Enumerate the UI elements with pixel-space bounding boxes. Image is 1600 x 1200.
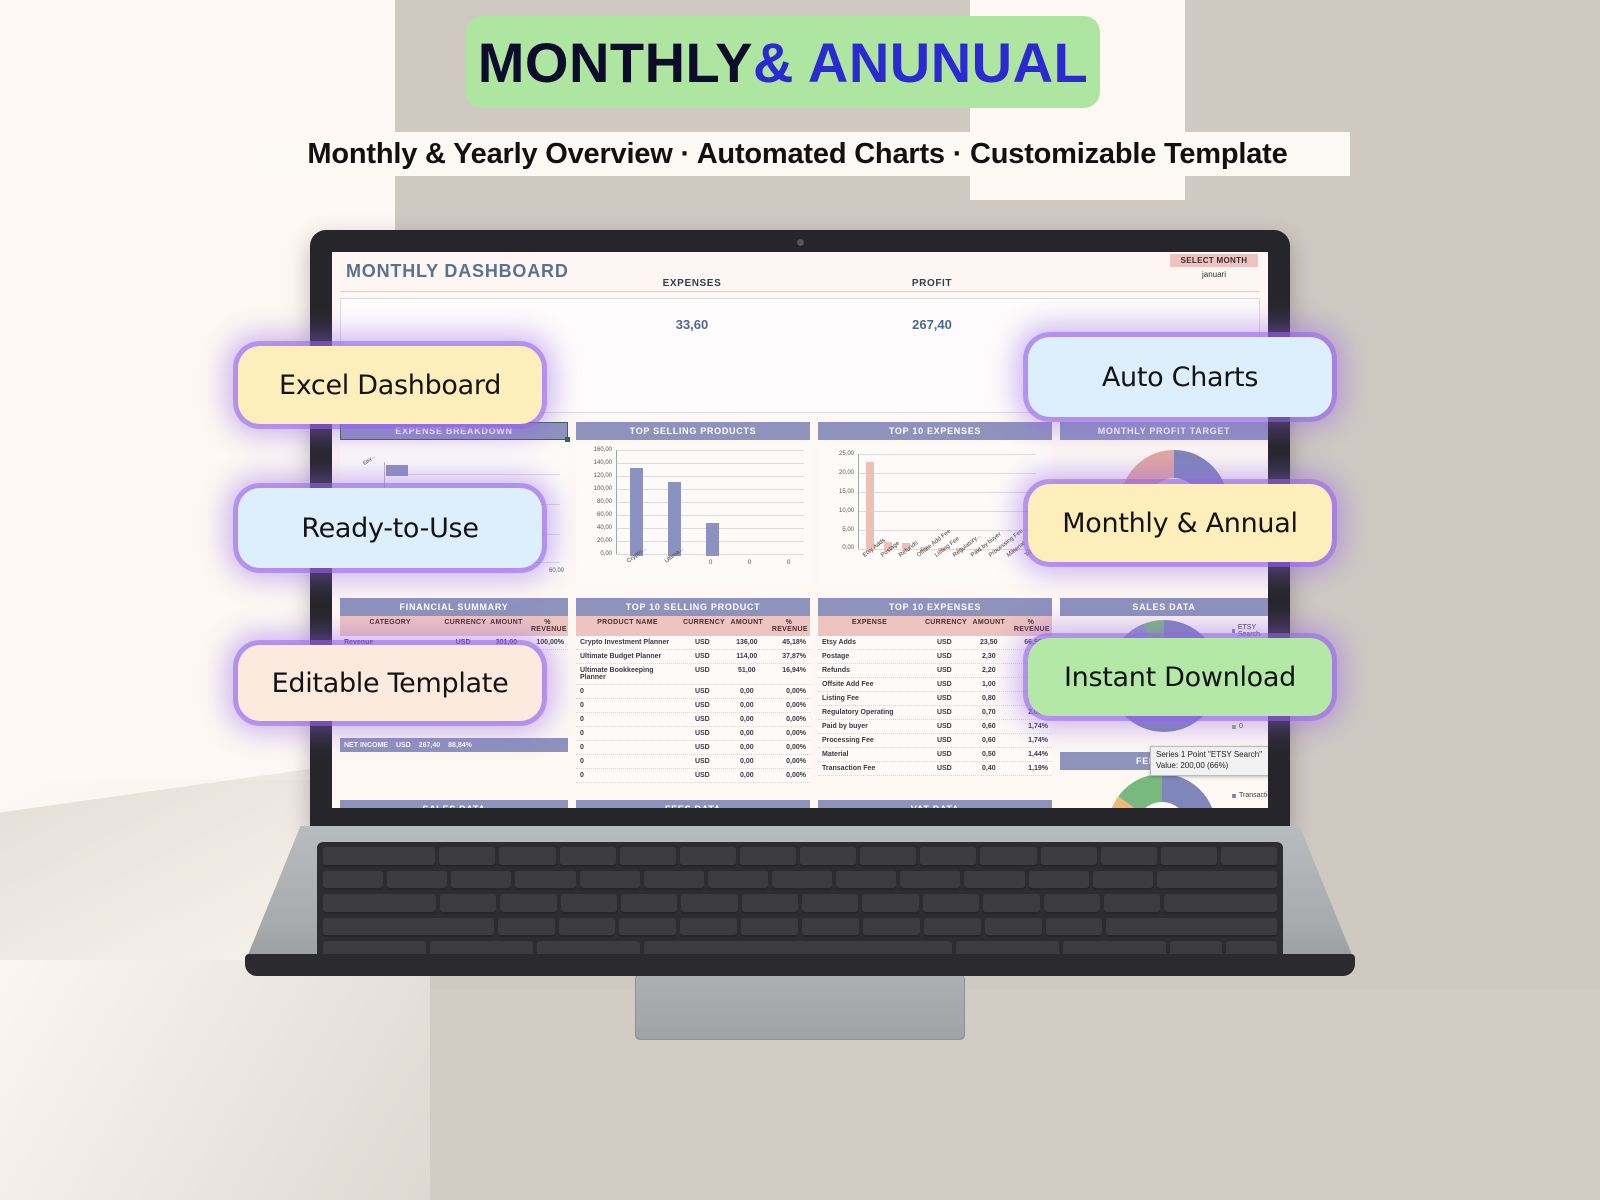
cell-revenue: 0,00%	[768, 727, 810, 740]
table-row[interactable]: 0USD0,000,00%	[576, 727, 810, 741]
table-body: Etsy AddsUSD23,5066,96%PostageUSD2,306,3…	[818, 636, 1052, 776]
select-month-widget[interactable]: SELECT MONTH januari	[1170, 254, 1258, 282]
cell-currency: USD	[921, 762, 968, 775]
cell-amount: 0,60	[968, 734, 1010, 747]
table-header-row: EXPENSE CURRENCY AMOUNT % REVENUE	[818, 616, 1052, 636]
legend-fees-data: Transaction Processing Regulatory	[1232, 792, 1268, 808]
bar-product-1	[630, 468, 643, 556]
main-title-part-1: MONTHLY	[478, 30, 753, 95]
chart-top-10-expenses[interactable]: 25,00 20,00 15,00 10,00 5,00 0,00	[818, 444, 1052, 584]
kpi-profit-value: 267,40	[872, 317, 992, 332]
cell-currency: USD	[679, 769, 726, 782]
cell-revenue: 1,74%	[1010, 720, 1052, 733]
panel-header-expense-breakdown[interactable]: EXPENSE BREAKDOWN	[340, 422, 568, 440]
cell-amount: 0,00	[726, 699, 768, 712]
col-revenue: % REVENUE	[527, 616, 568, 636]
table-row[interactable]: RefundsUSD2,206,25%	[818, 664, 1052, 678]
panel-header-financial-summary[interactable]: FINANCIAL SUMMARY	[340, 598, 568, 616]
feature-pill-monthly-annual[interactable]: Monthly & Annual	[1028, 484, 1332, 562]
kpi-expenses-label: EXPENSES	[632, 278, 752, 289]
cell-revenue: 45,18%	[768, 636, 810, 649]
cell-product-name: Crypto Investment Planner	[576, 636, 679, 649]
col-expense: EXPENSE	[818, 616, 921, 636]
col-currency: CURRENCY	[440, 616, 486, 636]
cell-product-name: 0	[576, 755, 679, 768]
col-category: CATEGORY	[340, 616, 440, 636]
exp-ytick-5: 5,00	[820, 527, 854, 533]
cell-currency: USD	[679, 755, 726, 768]
cell-revenue: 1,44%	[1010, 748, 1052, 761]
table-row[interactable]: Crypto Investment PlannerUSD136,0045,18%	[576, 636, 810, 650]
legend-label: 0	[1239, 723, 1243, 730]
cell-amount: 0,00	[726, 769, 768, 782]
cell-currency: USD	[679, 636, 726, 649]
cell-currency: USD	[679, 685, 726, 698]
net-income-label: NET INCOME	[340, 742, 392, 749]
cell-revenue: 1,19%	[1010, 762, 1052, 775]
cell-amount: 0,00	[726, 741, 768, 754]
kpi-profit-label: PROFIT	[872, 278, 992, 289]
panel-header-monthly-profit-target[interactable]: MONTHLY PROFIT TARGET	[1060, 422, 1268, 440]
xtick-product-5: 0	[787, 560, 790, 566]
axis-tick-max: 60,00	[549, 568, 564, 574]
cell-currency: USD	[921, 678, 968, 691]
cell-amount: 2,30	[968, 650, 1010, 663]
cell-amount: 0,50	[968, 748, 1010, 761]
table-top-10-expenses[interactable]: EXPENSE CURRENCY AMOUNT % REVENUE Etsy A…	[818, 616, 1052, 776]
col-revenue: % REVENUE	[768, 616, 810, 636]
feature-pill-editable-template[interactable]: Editable Template	[238, 645, 542, 721]
panel-header-bottom-fees-data[interactable]: FEES DATA	[576, 800, 810, 808]
subtitle: Monthly & Yearly Overview · Automated Ch…	[245, 132, 1350, 176]
exp-ytick-10: 10,00	[820, 508, 854, 514]
net-income-currency: USD	[392, 742, 415, 749]
table-row[interactable]: 0USD0,000,00%	[576, 755, 810, 769]
legend-item: Transaction	[1232, 792, 1268, 799]
table-row[interactable]: Ultimate Bookkeeping PlannerUSD51,0016,9…	[576, 664, 810, 685]
table-top-10-selling-product[interactable]: PRODUCT NAME CURRENCY AMOUNT % REVENUE C…	[576, 616, 810, 783]
cell-product-name: Ultimate Budget Planner	[576, 650, 679, 663]
table-row[interactable]: 0USD0,000,00%	[576, 769, 810, 783]
main-title-banner: MONTHLY & ANUNUAL	[466, 16, 1100, 108]
feature-pill-instant-download[interactable]: Instant Download	[1028, 638, 1332, 716]
cell-currency: USD	[679, 727, 726, 740]
cell-amount: 1,00	[968, 678, 1010, 691]
table-row[interactable]: Transaction FeeUSD0,401,19%	[818, 762, 1052, 776]
bar-expense-1	[386, 465, 408, 476]
cell-currency: USD	[921, 664, 968, 677]
feature-pill-auto-charts[interactable]: Auto Charts	[1028, 337, 1332, 417]
table-row[interactable]: Ultimate Budget PlannerUSD114,0037,87%	[576, 650, 810, 664]
col-currency: CURRENCY	[921, 616, 968, 636]
laptop-keyboard	[317, 842, 1283, 966]
cell-currency: USD	[921, 706, 968, 719]
cell-expense: Regulatory Operating	[818, 706, 921, 719]
cell-amount: 0,60	[968, 720, 1010, 733]
cell-product-name: 0	[576, 741, 679, 754]
panel-header-top-10-expenses-chart[interactable]: TOP 10 EXPENSES	[818, 422, 1052, 440]
net-income-revenue: 88,84%	[444, 742, 476, 749]
cell-currency: USD	[679, 664, 726, 684]
table-row[interactable]: Regulatory OperatingUSD0,702,08%	[818, 706, 1052, 720]
webcam-icon	[797, 239, 804, 246]
cell-currency: USD	[921, 650, 968, 663]
cell-revenue: 100,00%	[527, 636, 568, 649]
cell-currency: USD	[679, 650, 726, 663]
cell-amount: 0,40	[968, 762, 1010, 775]
panel-header-bottom-vat-data[interactable]: VAT DATA	[818, 800, 1052, 808]
col-amount: AMOUNT	[968, 616, 1010, 636]
table-row[interactable]: 0USD0,000,00%	[576, 713, 810, 727]
panel-header-top-selling-products[interactable]: TOP SELLING PRODUCTS	[576, 422, 810, 440]
cell-product-name: 0	[576, 685, 679, 698]
cell-currency: USD	[679, 741, 726, 754]
tooltip-line-2: Value: 200,00 (66%)	[1156, 761, 1268, 772]
cell-expense: Material	[818, 748, 921, 761]
laptop-base-lip	[245, 954, 1355, 976]
cell-currency: USD	[921, 692, 968, 705]
col-product-name: PRODUCT NAME	[576, 616, 679, 636]
main-title-part-2: & ANUNUAL	[753, 30, 1088, 95]
table-header-row: CATEGORY CURRENCY AMOUNT % REVENUE	[340, 616, 568, 636]
cell-revenue: 0,00%	[768, 755, 810, 768]
chart-top-selling-products[interactable]: 160,00 140,00 120,00 100,00 80,00 60,00 …	[576, 444, 810, 584]
chart-tooltip: Series 1 Point "ETSY Search" Value: 200,…	[1150, 746, 1268, 776]
cell-amount: 0,80	[968, 692, 1010, 705]
table-row[interactable]: Listing FeeUSD0,802,38%	[818, 692, 1052, 706]
cell-currency: USD	[921, 748, 968, 761]
table-row[interactable]: Offsite Add FeeUSD1,002,91%	[818, 678, 1052, 692]
cell-expense: Offsite Add Fee	[818, 678, 921, 691]
panel-header-top-10-selling-product[interactable]: TOP 10 SELLING PRODUCT	[576, 598, 810, 616]
cell-product-name: 0	[576, 727, 679, 740]
dashboard-title: MONTHLY DASHBOARD	[346, 261, 569, 282]
table-row[interactable]: Paid by buyerUSD0,601,74%	[818, 720, 1052, 734]
net-income-amount: 267,40	[415, 742, 444, 749]
cell-currency: USD	[921, 734, 968, 747]
col-amount: AMOUNT	[726, 616, 768, 636]
ytick-60: 60,00	[578, 512, 612, 518]
cell-amount: 0,00	[726, 685, 768, 698]
legend-item: ETSY Search	[1232, 624, 1268, 638]
xtick-product-4: 0	[748, 560, 751, 566]
cell-revenue: 0,00%	[768, 713, 810, 726]
exp-ytick-25: 25,00	[820, 451, 854, 457]
donut-fees-data[interactable]	[1108, 774, 1216, 808]
ytick-20: 20,00	[578, 538, 612, 544]
cell-revenue: 0,00%	[768, 685, 810, 698]
ytick-0: 0,00	[578, 551, 612, 557]
ytick-100: 100,00	[578, 486, 612, 492]
table-row[interactable]: MaterialUSD0,501,44%	[818, 748, 1052, 762]
cell-revenue: 0,00%	[768, 699, 810, 712]
row-net-income[interactable]: NET INCOME USD 267,40 88,84%	[340, 738, 568, 752]
table-row[interactable]: Processing FeeUSD0,601,74%	[818, 734, 1052, 748]
xtick-product-3: 0	[709, 560, 712, 566]
cell-revenue: 0,00%	[768, 769, 810, 782]
bar-product-3	[706, 523, 719, 556]
cell-amount: 2,20	[968, 664, 1010, 677]
table-row[interactable]: PostageUSD2,306,33%	[818, 650, 1052, 664]
table-row[interactable]: 0USD0,000,00%	[576, 741, 810, 755]
cell-amount: 114,00	[726, 650, 768, 663]
bar-product-2	[668, 482, 681, 556]
table-body: Crypto Investment PlannerUSD136,0045,18%…	[576, 636, 810, 783]
cell-product-name: 0	[576, 769, 679, 782]
panel-header-bottom-sales-data[interactable]: SALES DATA	[340, 800, 568, 808]
feature-pill-excel-dashboard[interactable]: Excel Dashboard	[238, 346, 542, 424]
feature-pill-ready-to-use[interactable]: Ready-to-Use	[238, 488, 542, 568]
cell-revenue: 1,74%	[1010, 734, 1052, 747]
exp-ytick-0: 0,00	[820, 545, 854, 551]
footer-logos: XLS Google Sheets X Excel	[0, 1035, 1600, 1165]
table-row[interactable]: 0USD0,000,00%	[576, 685, 810, 699]
laptop-trackpad	[635, 974, 965, 1040]
cell-currency: USD	[679, 713, 726, 726]
exp-ytick-20: 20,00	[820, 470, 854, 476]
cell-currency: USD	[679, 699, 726, 712]
ytick-80: 80,00	[578, 499, 612, 505]
legend-item: 0	[1232, 723, 1268, 730]
bar-expense-1	[866, 462, 874, 551]
cell-product-name: 0	[576, 713, 679, 726]
ytick-160: 160,00	[578, 447, 612, 453]
table-header-row: PRODUCT NAME CURRENCY AMOUNT % REVENUE	[576, 616, 810, 636]
cell-currency: USD	[921, 636, 968, 649]
legend-label: ETSY Search	[1238, 624, 1268, 638]
cell-revenue: 0,00%	[768, 741, 810, 754]
panel-header-top-10-expenses-table[interactable]: TOP 10 EXPENSES	[818, 598, 1052, 616]
kpi-expenses-value: 33,60	[632, 317, 752, 332]
cell-revenue: 16,94%	[768, 664, 810, 684]
ytick-140: 140,00	[578, 460, 612, 466]
select-month-label: SELECT MONTH	[1170, 254, 1258, 267]
cell-expense: Paid by buyer	[818, 720, 921, 733]
cell-expense: Listing Fee	[818, 692, 921, 705]
legend-label: Transaction	[1239, 792, 1268, 799]
cell-amount: 0,00	[726, 755, 768, 768]
cell-product-name: 0	[576, 699, 679, 712]
exp-ytick-15: 15,00	[820, 489, 854, 495]
cell-amount: 136,00	[726, 636, 768, 649]
cell-expense: Transaction Fee	[818, 762, 921, 775]
kpi-profit: PROFIT 267,40	[872, 278, 992, 332]
cell-amount: 0,00	[726, 727, 768, 740]
col-amount: AMOUNT	[486, 616, 527, 636]
cell-product-name: Ultimate Bookkeeping Planner	[576, 664, 679, 684]
select-month-value[interactable]: januari	[1170, 267, 1258, 282]
cell-expense: Refunds	[818, 664, 921, 677]
cell-revenue: 37,87%	[768, 650, 810, 663]
ytick-40: 40,00	[578, 525, 612, 531]
table-row[interactable]: Etsy AddsUSD23,5066,96%	[818, 636, 1052, 650]
cell-expense: Postage	[818, 650, 921, 663]
ytick-120: 120,00	[578, 473, 612, 479]
panel-header-sales-data[interactable]: SALES DATA	[1060, 598, 1268, 616]
bar-category-label: Etsy...	[362, 454, 376, 467]
col-revenue: % REVENUE	[1010, 616, 1052, 636]
col-currency: CURRENCY	[679, 616, 726, 636]
table-row[interactable]: 0USD0,000,00%	[576, 699, 810, 713]
cell-amount: 0,00	[726, 713, 768, 726]
cell-amount: 0,70	[968, 706, 1010, 719]
cell-amount: 23,50	[968, 636, 1010, 649]
cell-expense: Etsy Adds	[818, 636, 921, 649]
tooltip-line-1: Series 1 Point "ETSY Search"	[1156, 750, 1268, 761]
cell-amount: 51,00	[726, 664, 768, 684]
kpi-expenses: EXPENSES 33,60	[632, 278, 752, 332]
cell-expense: Processing Fee	[818, 734, 921, 747]
donut-hole	[1136, 802, 1188, 808]
cell-currency: USD	[921, 720, 968, 733]
